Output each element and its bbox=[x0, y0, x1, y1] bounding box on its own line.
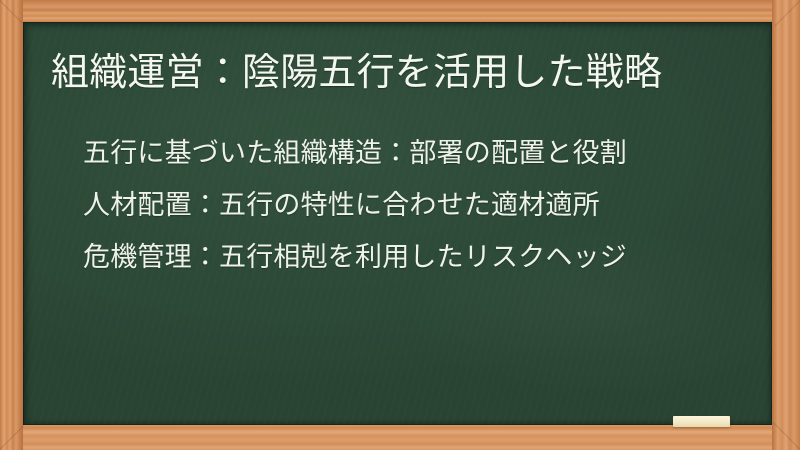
chalk-stick-icon bbox=[673, 416, 730, 427]
bullet-list: 五行に基づいた組織構造：部署の配置と役割 人材配置：五行の特性に合わせた適材適所… bbox=[83, 128, 773, 284]
frame-rail-left bbox=[0, 0, 23, 450]
bullet-item-1: 五行に基づいた組織構造：部署の配置と役割 bbox=[83, 128, 773, 180]
bullet-item-3: 危機管理：五行相剋を利用したリスクヘッジ bbox=[83, 232, 773, 284]
frame-rail-top bbox=[0, 0, 800, 22]
bullet-item-2: 人材配置：五行の特性に合わせた適材適所 bbox=[83, 180, 773, 232]
frame-rail-right bbox=[772, 0, 800, 450]
slide-canvas: 組織運営：陰陽五行を活用した戦略 五行に基づいた組織構造：部署の配置と役割 人材… bbox=[0, 0, 800, 450]
frame-rail-bottom bbox=[0, 424, 800, 450]
slide-title: 組織運営：陰陽五行を活用した戦略 bbox=[51, 48, 751, 96]
chalkboard-surface: 組織運営：陰陽五行を活用した戦略 五行に基づいた組織構造：部署の配置と役割 人材… bbox=[23, 22, 772, 425]
